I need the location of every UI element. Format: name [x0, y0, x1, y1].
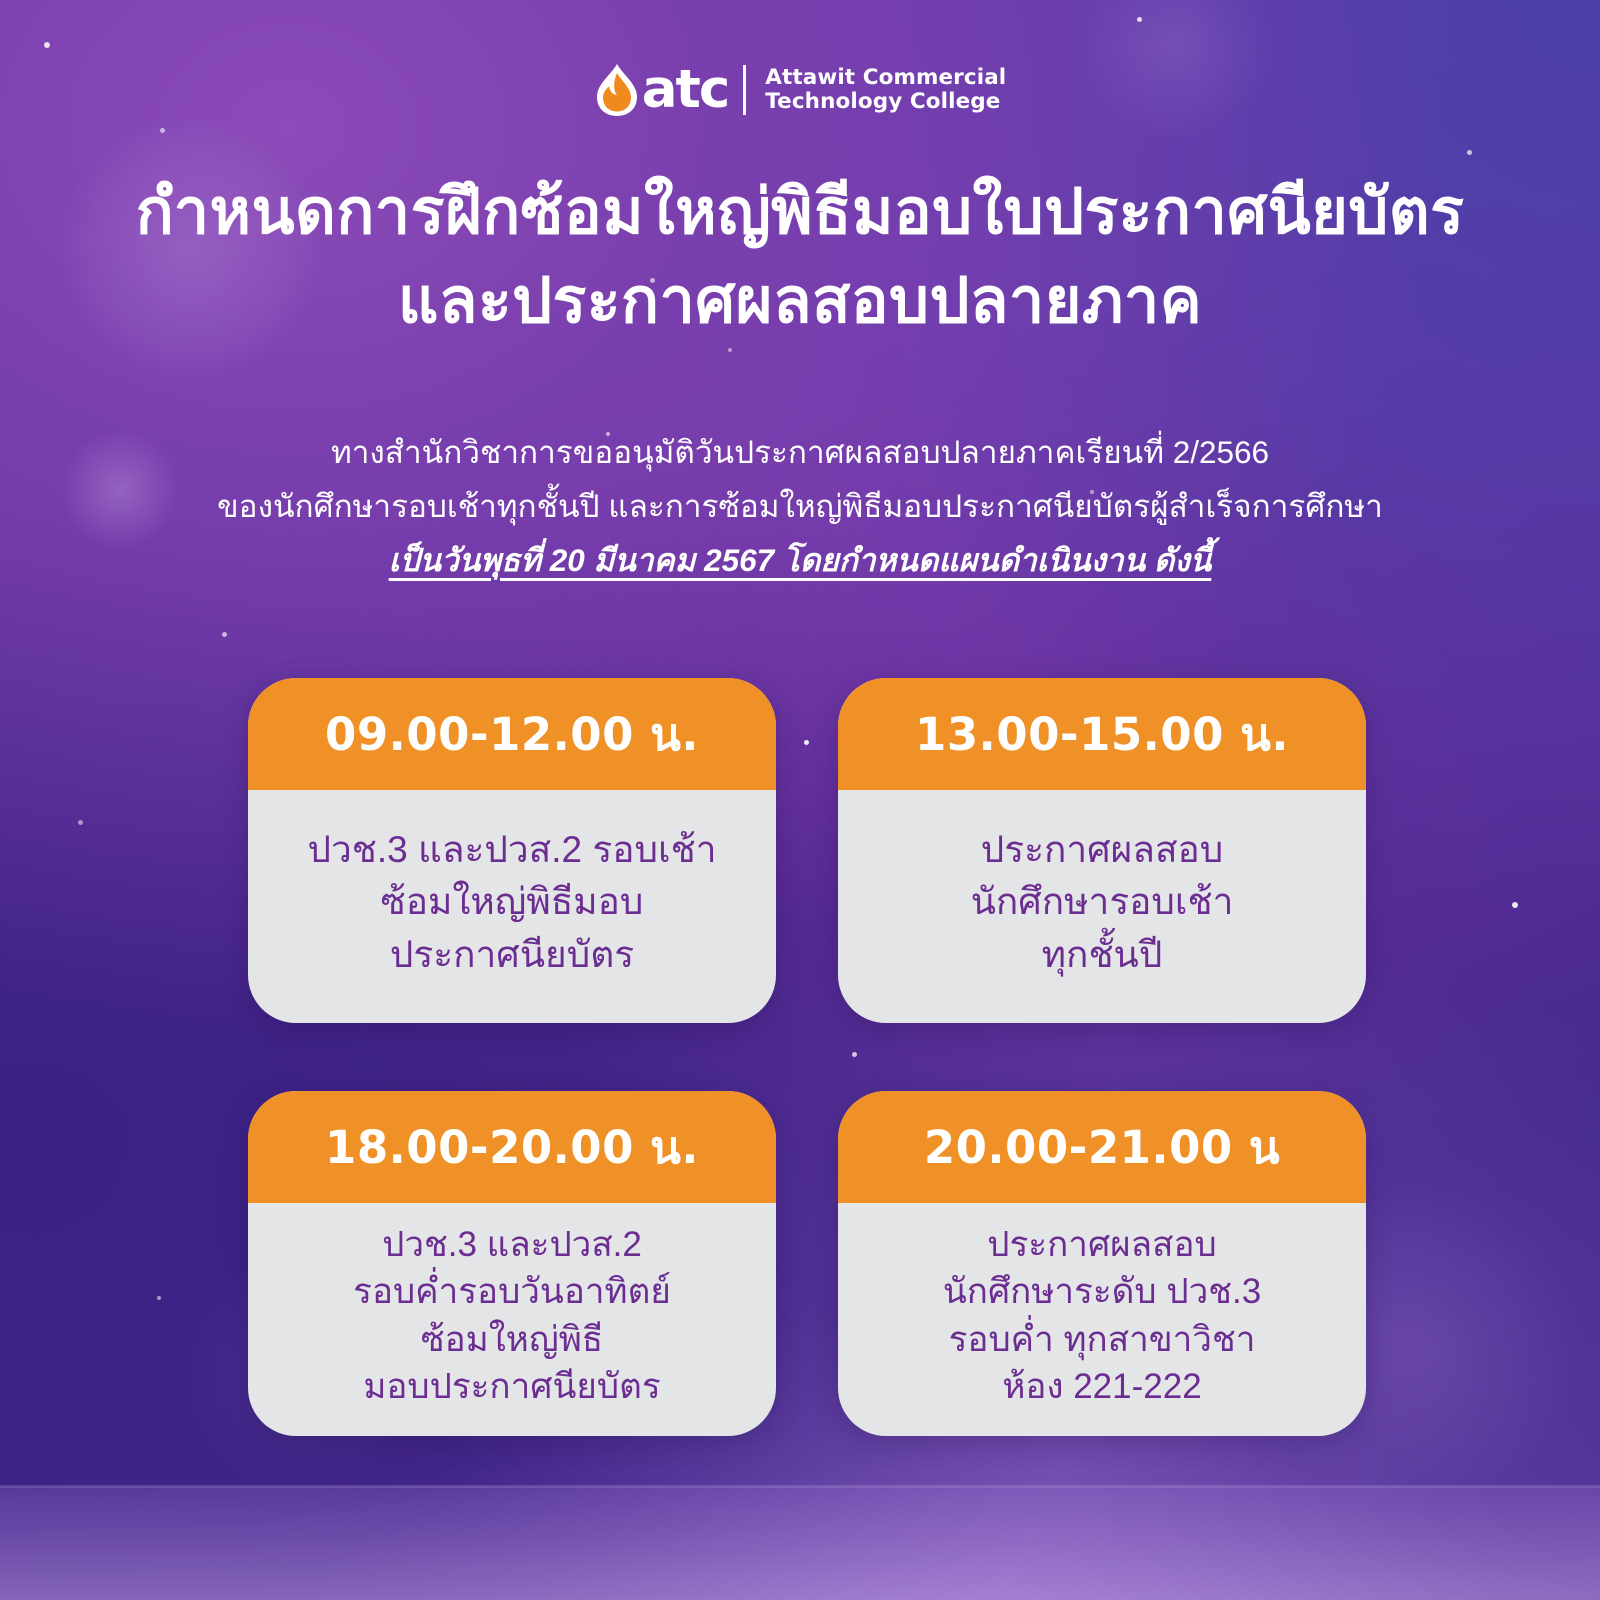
subtitle-line2: ของนักศึกษารอบเช้าทุกชั้นปี และการซ้อมให… [70, 479, 1530, 533]
logo-name-line2: Technology College [765, 90, 1006, 114]
card-detail: ประกาศผลสอบ นักศึกษารอบเช้า ทุกชั้นปี [838, 790, 1366, 1023]
schedule-card-4[interactable]: 20.00-21.00 น ประกาศผลสอบ นักศึกษาระดับ … [838, 1091, 1366, 1436]
card-detail-line: นักศึกษารอบเช้า [971, 876, 1234, 929]
logo-abbr: atc [642, 66, 729, 115]
subtitle-emphasis: เป็นวันพุธที่ 20 มีนาคม 2567 โดยกำหนดแผน… [389, 542, 1212, 578]
card-time-badge: 18.00-20.00 น. [248, 1091, 776, 1203]
subtitle-line3: เป็นวันพุธที่ 20 มีนาคม 2567 โดยกำหนดแผน… [70, 533, 1530, 587]
page-title-line2: และประกาศผลสอบปลายภาค [60, 257, 1540, 346]
schedule-card-1[interactable]: 09.00-12.00 น. ปวช.3 และปวส.2 รอบเช้า ซ้… [248, 678, 776, 1023]
floor-reflection [0, 1487, 1600, 1600]
logo-name-line1: Attawit Commercial [765, 66, 1006, 90]
logo-divider [743, 65, 746, 115]
card-detail-line: ทุกชั้นปี [1042, 929, 1163, 982]
page-subtitle: ทางสำนักวิชาการขออนุมัติวันประกาศผลสอบปล… [0, 425, 1600, 588]
card-detail: ปวช.3 และปวส.2 รอบค่ำรอบวันอาทิตย์ ซ้อมใ… [248, 1203, 776, 1436]
sparkle-dot [1467, 150, 1472, 155]
card-detail-line: ประกาศผลสอบ [981, 824, 1224, 877]
schedule-grid: 09.00-12.00 น. ปวช.3 และปวส.2 รอบเช้า ซ้… [248, 678, 1366, 1436]
page-title: กำหนดการฝึกซ้อมใหญ่พิธีมอบใบประกาศนียบัต… [0, 168, 1600, 347]
card-detail-line: ปวช.3 และปวส.2 [382, 1221, 642, 1268]
subtitle-line1: ทางสำนักวิชาการขออนุมัติวันประกาศผลสอบปล… [70, 425, 1530, 479]
card-time-badge: 09.00-12.00 น. [248, 678, 776, 790]
card-time-badge: 13.00-15.00 น. [838, 678, 1366, 790]
sparkle-dot [157, 1296, 161, 1300]
flame-droplet-icon [594, 62, 640, 118]
schedule-card-2[interactable]: 13.00-15.00 น. ประกาศผลสอบ นักศึกษารอบเช… [838, 678, 1366, 1023]
sparkle-dot [1137, 17, 1142, 22]
card-detail-line: ประกาศผลสอบ [987, 1221, 1216, 1268]
sparkle-dot [728, 348, 732, 352]
card-detail-line: ประกาศนียบัตร [390, 929, 634, 982]
sparkle-dot [1512, 902, 1518, 908]
card-detail-line: ซ้อมใหญ่พิธี [421, 1316, 603, 1363]
sparkle-dot [44, 42, 50, 48]
card-detail-line: ห้อง 221-222 [1002, 1363, 1201, 1410]
brand-logo: atc Attawit Commercial Technology Colleg… [0, 62, 1600, 118]
sparkle-dot [160, 128, 165, 133]
card-detail-line: รอบค่ำรอบวันอาทิตย์ [353, 1268, 671, 1315]
card-detail-line: รอบค่ำ ทุกสาขาวิชา [949, 1316, 1256, 1363]
card-detail-line: ปวช.3 และปวส.2 รอบเช้า [307, 824, 716, 877]
card-detail-line: นักศึกษาระดับ ปวช.3 [943, 1268, 1261, 1315]
card-detail: ประกาศผลสอบ นักศึกษาระดับ ปวช.3 รอบค่ำ ท… [838, 1203, 1366, 1436]
sparkle-dot [222, 632, 227, 637]
page-title-line1: กำหนดการฝึกซ้อมใหญ่พิธีมอบใบประกาศนียบัต… [60, 168, 1540, 257]
schedule-card-3[interactable]: 18.00-20.00 น. ปวช.3 และปวส.2 รอบค่ำรอบว… [248, 1091, 776, 1436]
card-detail-line: ซ้อมใหญ่พิธีมอบ [381, 876, 644, 929]
logo-mark: atc [594, 62, 729, 118]
card-detail: ปวช.3 และปวส.2 รอบเช้า ซ้อมใหญ่พิธีมอบ ป… [248, 790, 776, 1023]
card-time-badge: 20.00-21.00 น [838, 1091, 1366, 1203]
logo-wordmark: Attawit Commercial Technology College [765, 66, 1006, 114]
card-detail-line: มอบประกาศนียบัตร [363, 1363, 660, 1410]
poster-canvas: atc Attawit Commercial Technology Colleg… [0, 0, 1600, 1600]
sparkle-dot [78, 820, 83, 825]
